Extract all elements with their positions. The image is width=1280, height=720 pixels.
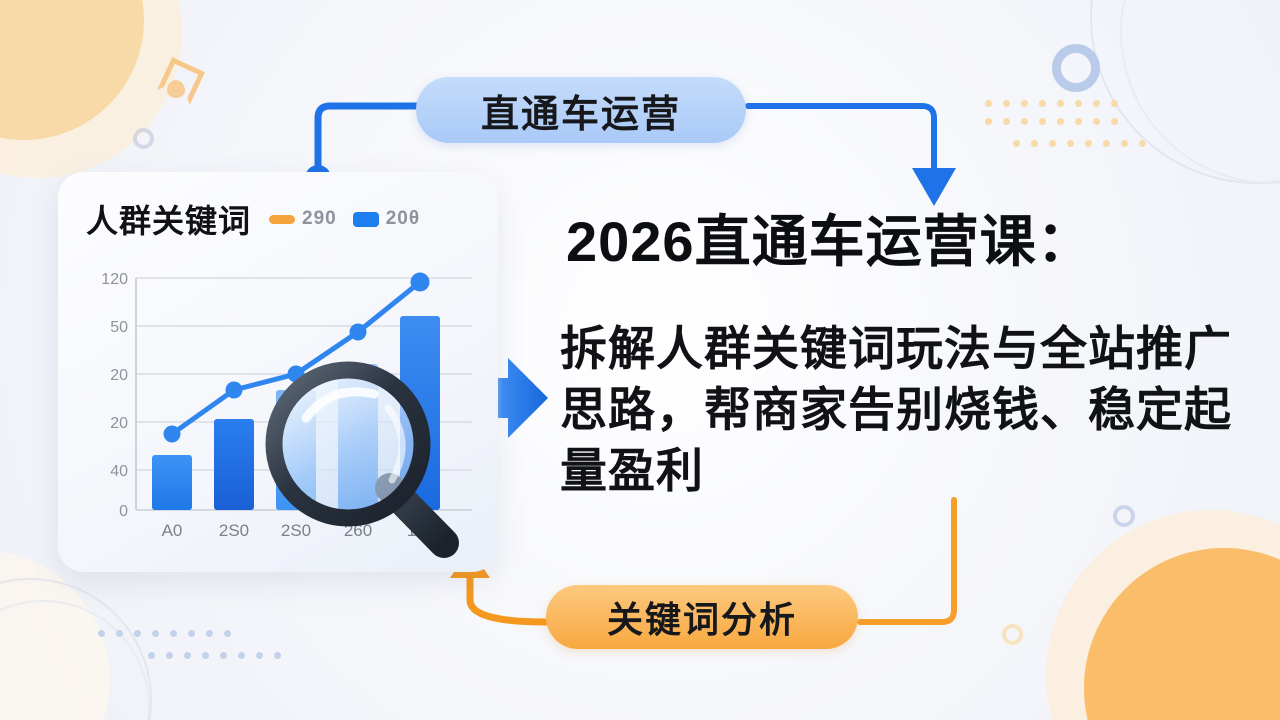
chart-line-marker	[226, 382, 243, 399]
chart-line-marker	[350, 324, 367, 341]
legend-item-line: 290	[269, 208, 337, 230]
y-tick-label: 20	[110, 415, 128, 432]
x-tick-label: 2S0	[219, 521, 249, 540]
chart-card-header: 人群关键词 290 20θ	[86, 196, 478, 242]
badge-bottom-label: 关键词分析	[607, 591, 797, 643]
page-title: 2026直通车运营课：	[566, 212, 1226, 272]
badge-bottom[interactable]: 关键词分析	[546, 585, 858, 649]
page-subtitle: 拆解人群关键词玩法与全站推广思路，帮商家告别烧钱、稳定起量盈利	[560, 318, 1240, 501]
chart-line-marker	[411, 273, 430, 292]
arrow-down-icon	[912, 168, 956, 206]
connector-orange-left	[470, 576, 546, 622]
badge-top[interactable]: 直通车运营	[416, 77, 746, 143]
magnifier-icon	[262, 358, 472, 568]
chart-title: 人群关键词	[86, 196, 251, 242]
badge-top-label: 直通车运营	[481, 83, 681, 138]
chart-line-marker	[164, 426, 181, 443]
y-tick-label: 20	[110, 367, 128, 384]
legend-item-bar: 20θ	[353, 208, 420, 230]
y-tick-label: 50	[110, 319, 128, 336]
connector-blue-right	[748, 106, 934, 168]
legend-swatch-line	[269, 215, 295, 224]
chart-bar	[214, 419, 254, 510]
connector-blue-left	[318, 106, 420, 180]
chart-bar	[152, 455, 192, 510]
y-tick-label: 0	[119, 503, 128, 520]
legend-label-line: 290	[302, 208, 337, 230]
y-tick-label: 40	[110, 463, 128, 480]
y-tick-label: 120	[101, 271, 128, 288]
chart-legend: 290 20θ	[269, 208, 420, 230]
legend-label-bar: 20θ	[386, 208, 420, 230]
connector-orange-right	[860, 500, 954, 622]
x-tick-label: A0	[162, 521, 183, 540]
chart-y-ticks: 120 50 20 20 40 0	[101, 271, 128, 520]
legend-swatch-bar	[353, 212, 379, 227]
poster-canvas: 直通车运营 人群关键词 290 20θ	[0, 0, 1280, 720]
